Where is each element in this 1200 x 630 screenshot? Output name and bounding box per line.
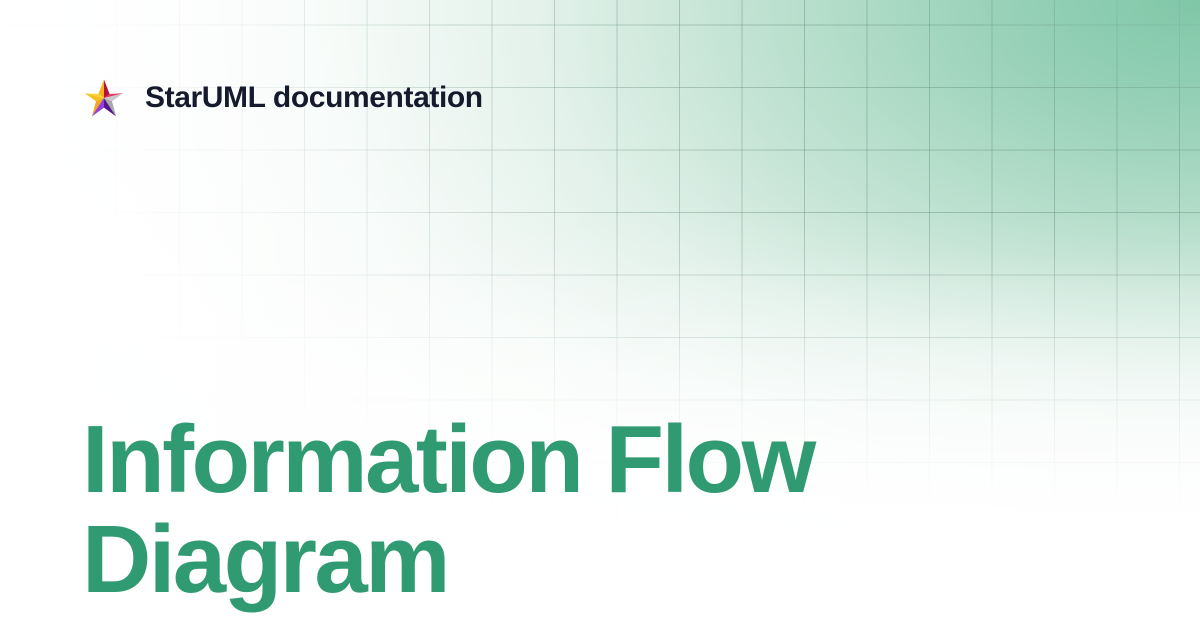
brand-title: StarUML documentation	[145, 83, 483, 113]
staruml-star-logo-icon	[84, 78, 124, 118]
page-title: Information Flow Diagram	[82, 410, 982, 610]
card-content: StarUML documentation Information Flow D…	[0, 0, 1200, 630]
og-card: StarUML documentation Information Flow D…	[0, 0, 1200, 630]
brand-header: StarUML documentation	[84, 78, 483, 118]
